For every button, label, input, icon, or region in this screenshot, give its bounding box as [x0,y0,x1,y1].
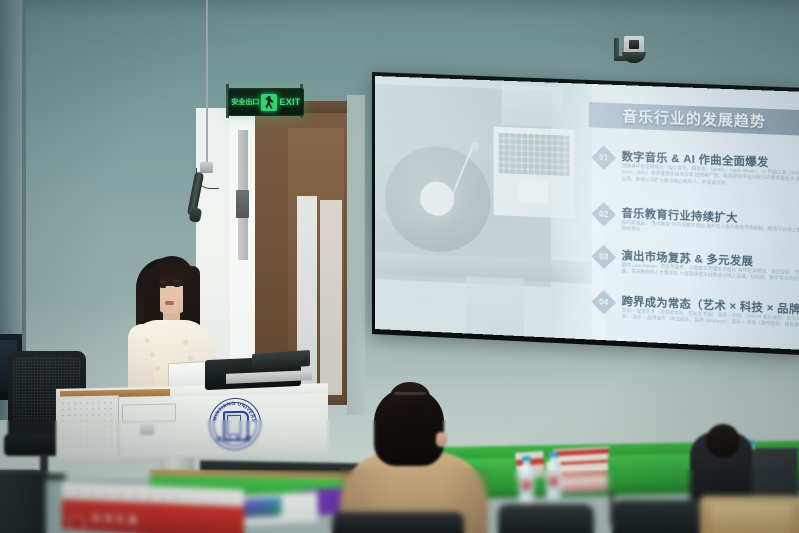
bullet-number-04: 04 [595,293,612,311]
door-glass-pane-2 [320,200,342,395]
slide-bullet-04: 04 跨界成为常态（艺术 × 科技 × 品牌 × 游戏） 音乐 + 视觉艺术（沉… [595,291,799,301]
speaker-shoulder-left [128,324,154,394]
hair-clip-icon [394,392,426,395]
bottle-label [519,476,534,494]
slide-title: 音乐行业的发展趋势 [622,105,766,132]
speaker-eye-left [160,285,166,288]
svg-text:MINJIANG UNIVERSITY: MINJIANG UNIVERSITY [209,397,256,424]
wall-switch-box[interactable] [236,190,249,218]
ceiling-strip [0,0,799,18]
slide-bullet-03: 03 演出市场复苏 & 多元发展 国内 Live House、音乐节复苏、小型音… [595,246,799,255]
slide-bullet-02: 02 音乐教育行业持续扩大 国内双减后，“艺术教育”的市场需求增加 海外华人音乐… [595,203,799,212]
slide-text-layer: 音乐行业的发展趋势 01 数字音乐 & AI 作曲全面爆发 流媒体平台全球增长（… [375,76,799,350]
bullet-body-01: 流媒体平台全球增长（QQ 音乐、网易云、Spotify、Apple Music）… [622,163,799,191]
bullet-number-badge-02: 02 [591,202,616,226]
logo-chinese-text: 闽 江 学 院 [209,433,259,443]
qr-code-icon [244,504,279,519]
knit-detail [145,338,150,343]
water-bottle[interactable] [545,452,562,500]
listener-hair-bun [390,382,430,412]
microphone-cable [206,0,208,166]
bottle-label [546,472,561,490]
bullet-number-badge-01: 01 [591,146,616,170]
foreground-chair-1[interactable] [498,504,594,533]
knit-detail [188,356,193,361]
bottle-label-graphic [549,476,558,486]
foreground-person-edge [0,470,46,533]
speaker-mouth [165,301,174,305]
knit-detail [183,340,188,345]
bullet-body-03: 国内 Live House、音乐节复苏、小型音乐节爆发式增长 海外巡演增加、演出… [622,262,799,284]
box-seal-icon [68,515,85,533]
speaker-eye-right [174,284,180,287]
listener-chair[interactable] [332,512,464,533]
emergency-exit-sign: 安全出口 EXIT [228,88,304,116]
bottle-label-graphic [522,480,531,490]
running-person-icon [261,94,277,111]
exit-sign-english-label: EXIT [279,97,300,107]
speaker-eyebrow-left [159,281,166,283]
knit-detail [155,366,160,371]
lectern-speaker-grille [60,399,114,450]
projection-screen-surface: 音乐行业的发展趋势 01 数字音乐 & AI 作曲全面爆发 流媒体平台全球增长（… [375,76,799,350]
wall-segment-right [347,95,365,415]
lectern-drawer[interactable] [122,403,176,422]
lecture-hall-photo: 安全出口 EXIT 音乐行业的发展趋势 [0,0,799,533]
exit-sign-chinese-label: 安全出口 [231,97,259,107]
bullet-number-badge-04: 04 [591,290,616,314]
slide-title-bar: 音乐行业的发展趋势 [589,102,799,135]
listener-ear [436,432,447,447]
wooden-seat-right-inner [712,504,792,533]
slide-bullet-01: 01 数字音乐 & AI 作曲全面爆发 流媒体平台全球增长（QQ 音乐、网易云、… [595,147,799,155]
bullet-number-badge-03: 03 [591,245,616,269]
foreground-chair-2[interactable] [612,500,708,533]
bullet-number-02: 02 [595,205,612,223]
bullet-number-01: 01 [595,149,612,167]
knit-detail [150,352,155,357]
speaker-eyebrow-right [173,280,180,282]
university-logo: MINJIANG UNIVERSITY 闽 江 学 院 [205,397,265,450]
bullet-body-02: 国内双减后，“艺术教育”的市场需求增加 海外华人音乐教育市场崛起，教育平台线上教… [622,220,799,242]
bullet-number-03: 03 [595,248,612,266]
water-bottle[interactable] [518,456,535,504]
camera-lens-icon [629,40,639,49]
lectern-control-knob[interactable] [140,424,154,435]
right-listener-head [706,424,740,458]
